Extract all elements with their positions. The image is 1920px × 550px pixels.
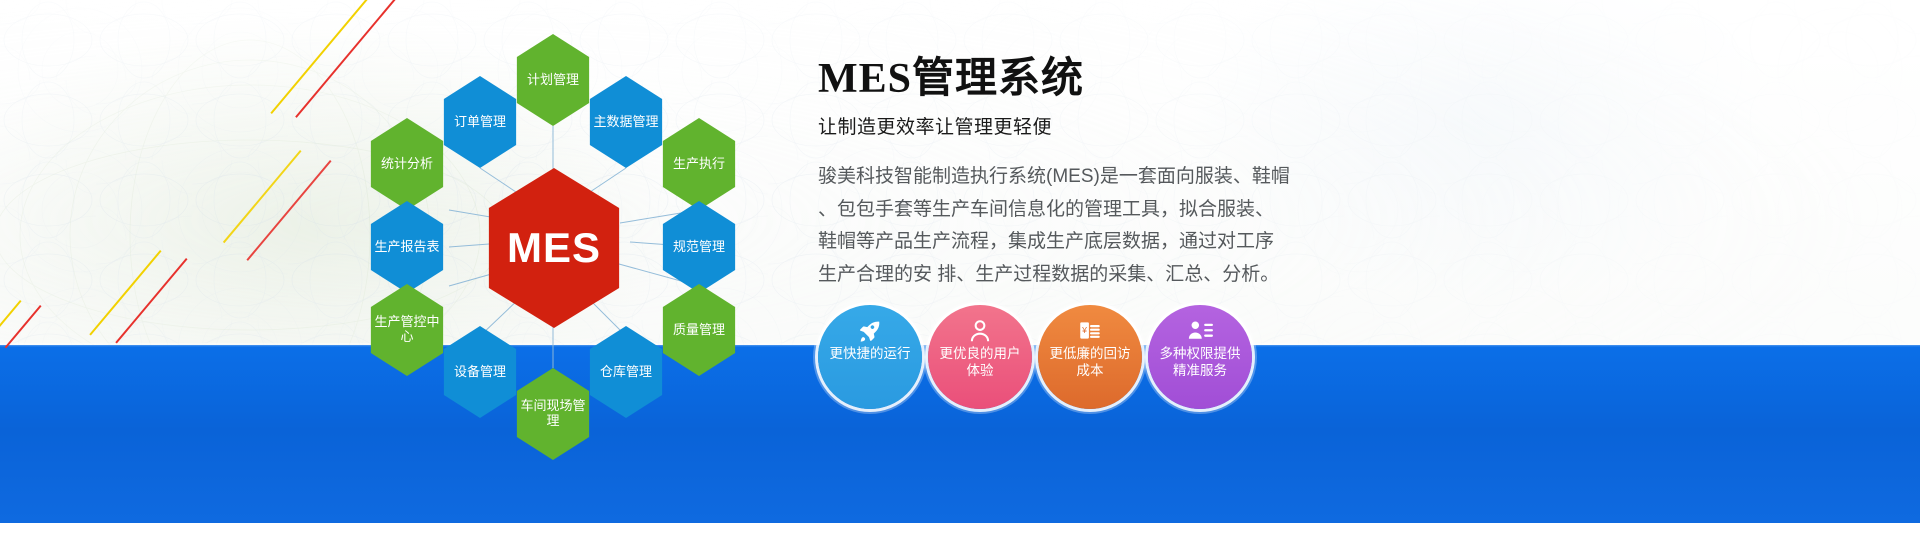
- svg-text:¥: ¥: [1081, 325, 1087, 335]
- diagram-node-label: 生产管控中心: [365, 315, 449, 345]
- description-line: 骏美科技智能制造执行系统(MES)是一套面向服装、鞋帽: [818, 161, 1283, 194]
- diagram-node-label: 主数据管理: [587, 115, 664, 130]
- diagram-node-label: 统计分析: [375, 157, 439, 172]
- background-bottom-white-band: [0, 523, 1920, 550]
- page-subtitle: 让制造更效率让管理更轻便: [818, 112, 1818, 139]
- diagram-node-label: 仓库管理: [594, 365, 658, 380]
- user-list-icon: [1187, 318, 1214, 344]
- banner-text-panel: MES管理系统 让制造更效率让管理更轻便 骏美科技智能制造执行系统(MES)是一…: [818, 58, 1818, 518]
- feature-badge-label: 多种权限提供精准服务: [1154, 346, 1246, 380]
- rocket-icon: [857, 318, 883, 344]
- feature-badge[interactable]: ¥更低廉的回访成本: [1038, 305, 1142, 409]
- diagram-node-label: 计划管理: [521, 73, 585, 88]
- diagram-node-label: 质量管理: [667, 323, 731, 338]
- diagram-center-label: MES: [501, 224, 607, 272]
- diagram-node-label: 车间现场管理: [511, 399, 595, 429]
- feature-badge[interactable]: 更优良的用户体验: [928, 305, 1032, 409]
- description-line: 生产合理的安 排、生产过程数据的采集、汇总、分析。: [818, 259, 1283, 292]
- diagram-node-label: 生产报告表: [368, 240, 445, 255]
- feature-badge-label: 更快捷的运行: [824, 346, 916, 363]
- feature-badge-label: 更优良的用户体验: [934, 346, 1026, 380]
- feature-badge[interactable]: 多种权限提供精准服务: [1148, 305, 1252, 409]
- feature-badge[interactable]: 更快捷的运行: [818, 305, 922, 409]
- description-line: 、包包手套等生产车间信息化的管理工具，拟合服装、: [818, 194, 1283, 227]
- page-description: 骏美科技智能制造执行系统(MES)是一套面向服装、鞋帽 、包包手套等生产车间信息…: [818, 161, 1283, 292]
- banner-stage: MES 计划管理订单管理主数据管理统计分析生产执行生产报告表规范管理生产管控中心…: [0, 0, 1920, 550]
- user-icon: [967, 318, 993, 344]
- diagram-node-label: 规范管理: [667, 240, 731, 255]
- diagram-node-label: 生产执行: [667, 157, 731, 172]
- page-title: MES管理系统: [818, 58, 1818, 100]
- diagram-node-label: 订单管理: [448, 115, 512, 130]
- diagram-node-label: 设备管理: [448, 365, 512, 380]
- feature-badge-row: 更快捷的运行更优良的用户体验¥更低廉的回访成本多种权限提供精准服务: [818, 305, 1278, 405]
- feature-badge-label: 更低廉的回访成本: [1044, 346, 1136, 380]
- description-line: 鞋帽等产品生产流程，集成生产底层数据，通过对工序: [818, 226, 1283, 259]
- money-stack-icon: ¥: [1077, 318, 1103, 344]
- mes-hexagon-diagram: MES 计划管理订单管理主数据管理统计分析生产执行生产报告表规范管理生产管控中心…: [330, 18, 780, 418]
